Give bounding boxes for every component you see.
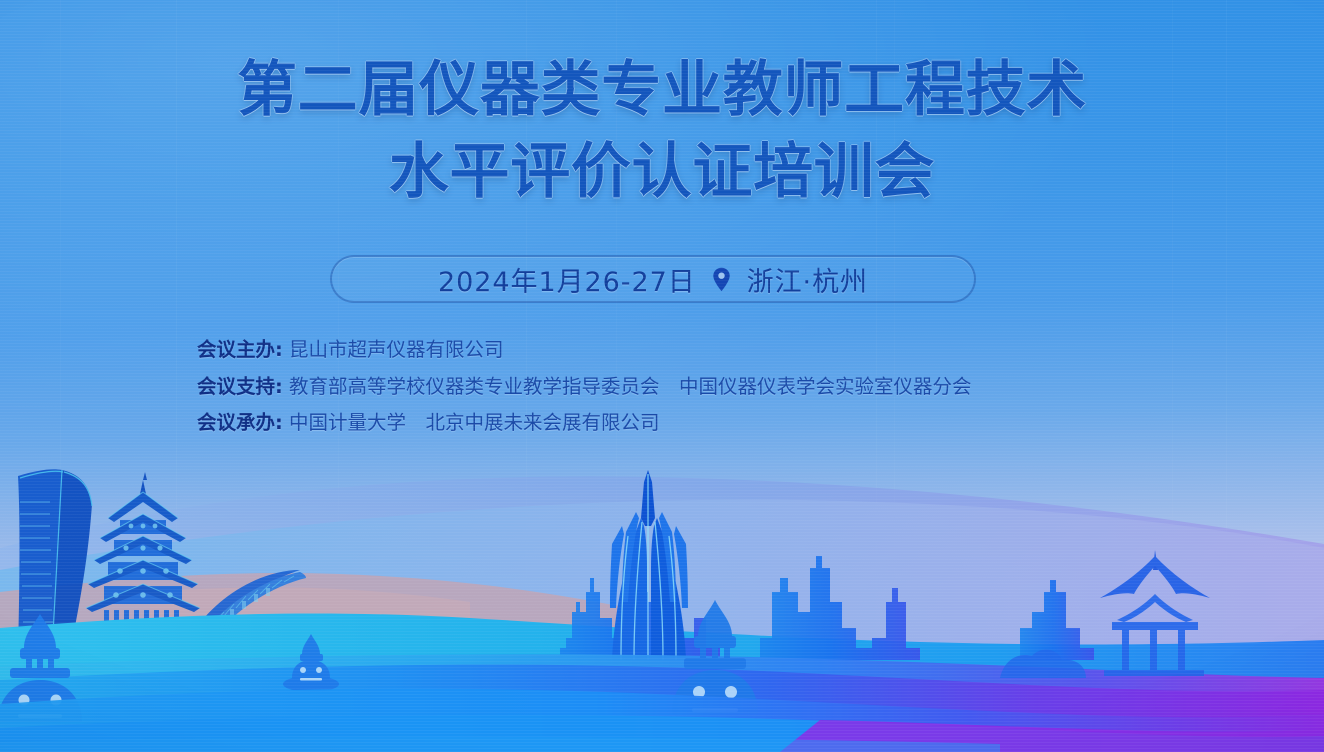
organizer-row: 会议承办: 中国计量大学 北京中展未来会展有限公司 <box>197 405 972 442</box>
event-date-text: 2024年1月26-27日 <box>438 260 696 299</box>
conference-backdrop-banner: 第二届仪器类专业教师工程技术 水平评价认证培训会 2024年1月26-27日 浙… <box>0 0 1324 752</box>
organizer-value: 昆山市超声仪器有限公司 <box>289 338 504 361</box>
organizer-value: 中国计量大学 北京中展未来会展有限公司 <box>289 411 660 434</box>
title-line-1: 第二届仪器类专业教师工程技术 <box>0 54 1324 127</box>
title-line-2: 水平评价认证培训会 <box>0 136 1324 209</box>
organizer-label: 会议支持: <box>197 375 283 398</box>
organizer-list: 会议主办: 昆山市超声仪器有限公司 会议支持: 教育部高等学校仪器类专业教学指导… <box>197 332 972 442</box>
page-title: 第二届仪器类专业教师工程技术 水平评价认证培训会 <box>0 54 1324 209</box>
organizer-row: 会议主办: 昆山市超声仪器有限公司 <box>197 332 972 369</box>
organizer-label: 会议承办: <box>197 411 283 434</box>
organizer-label: 会议主办: <box>197 338 283 361</box>
organizer-value: 教育部高等学校仪器类专业教学指导委员会 中国仪器仪表学会实验室仪器分会 <box>289 375 972 398</box>
organizer-row: 会议支持: 教育部高等学校仪器类专业教学指导委员会 中国仪器仪表学会实验室仪器分… <box>197 369 972 406</box>
date-location-badge: 2024年1月26-27日 浙江·杭州 <box>330 255 976 303</box>
location-pin-icon <box>712 267 731 292</box>
hangzhou-scenery-illustration <box>0 452 1324 752</box>
event-location-text: 浙江·杭州 <box>747 260 868 299</box>
